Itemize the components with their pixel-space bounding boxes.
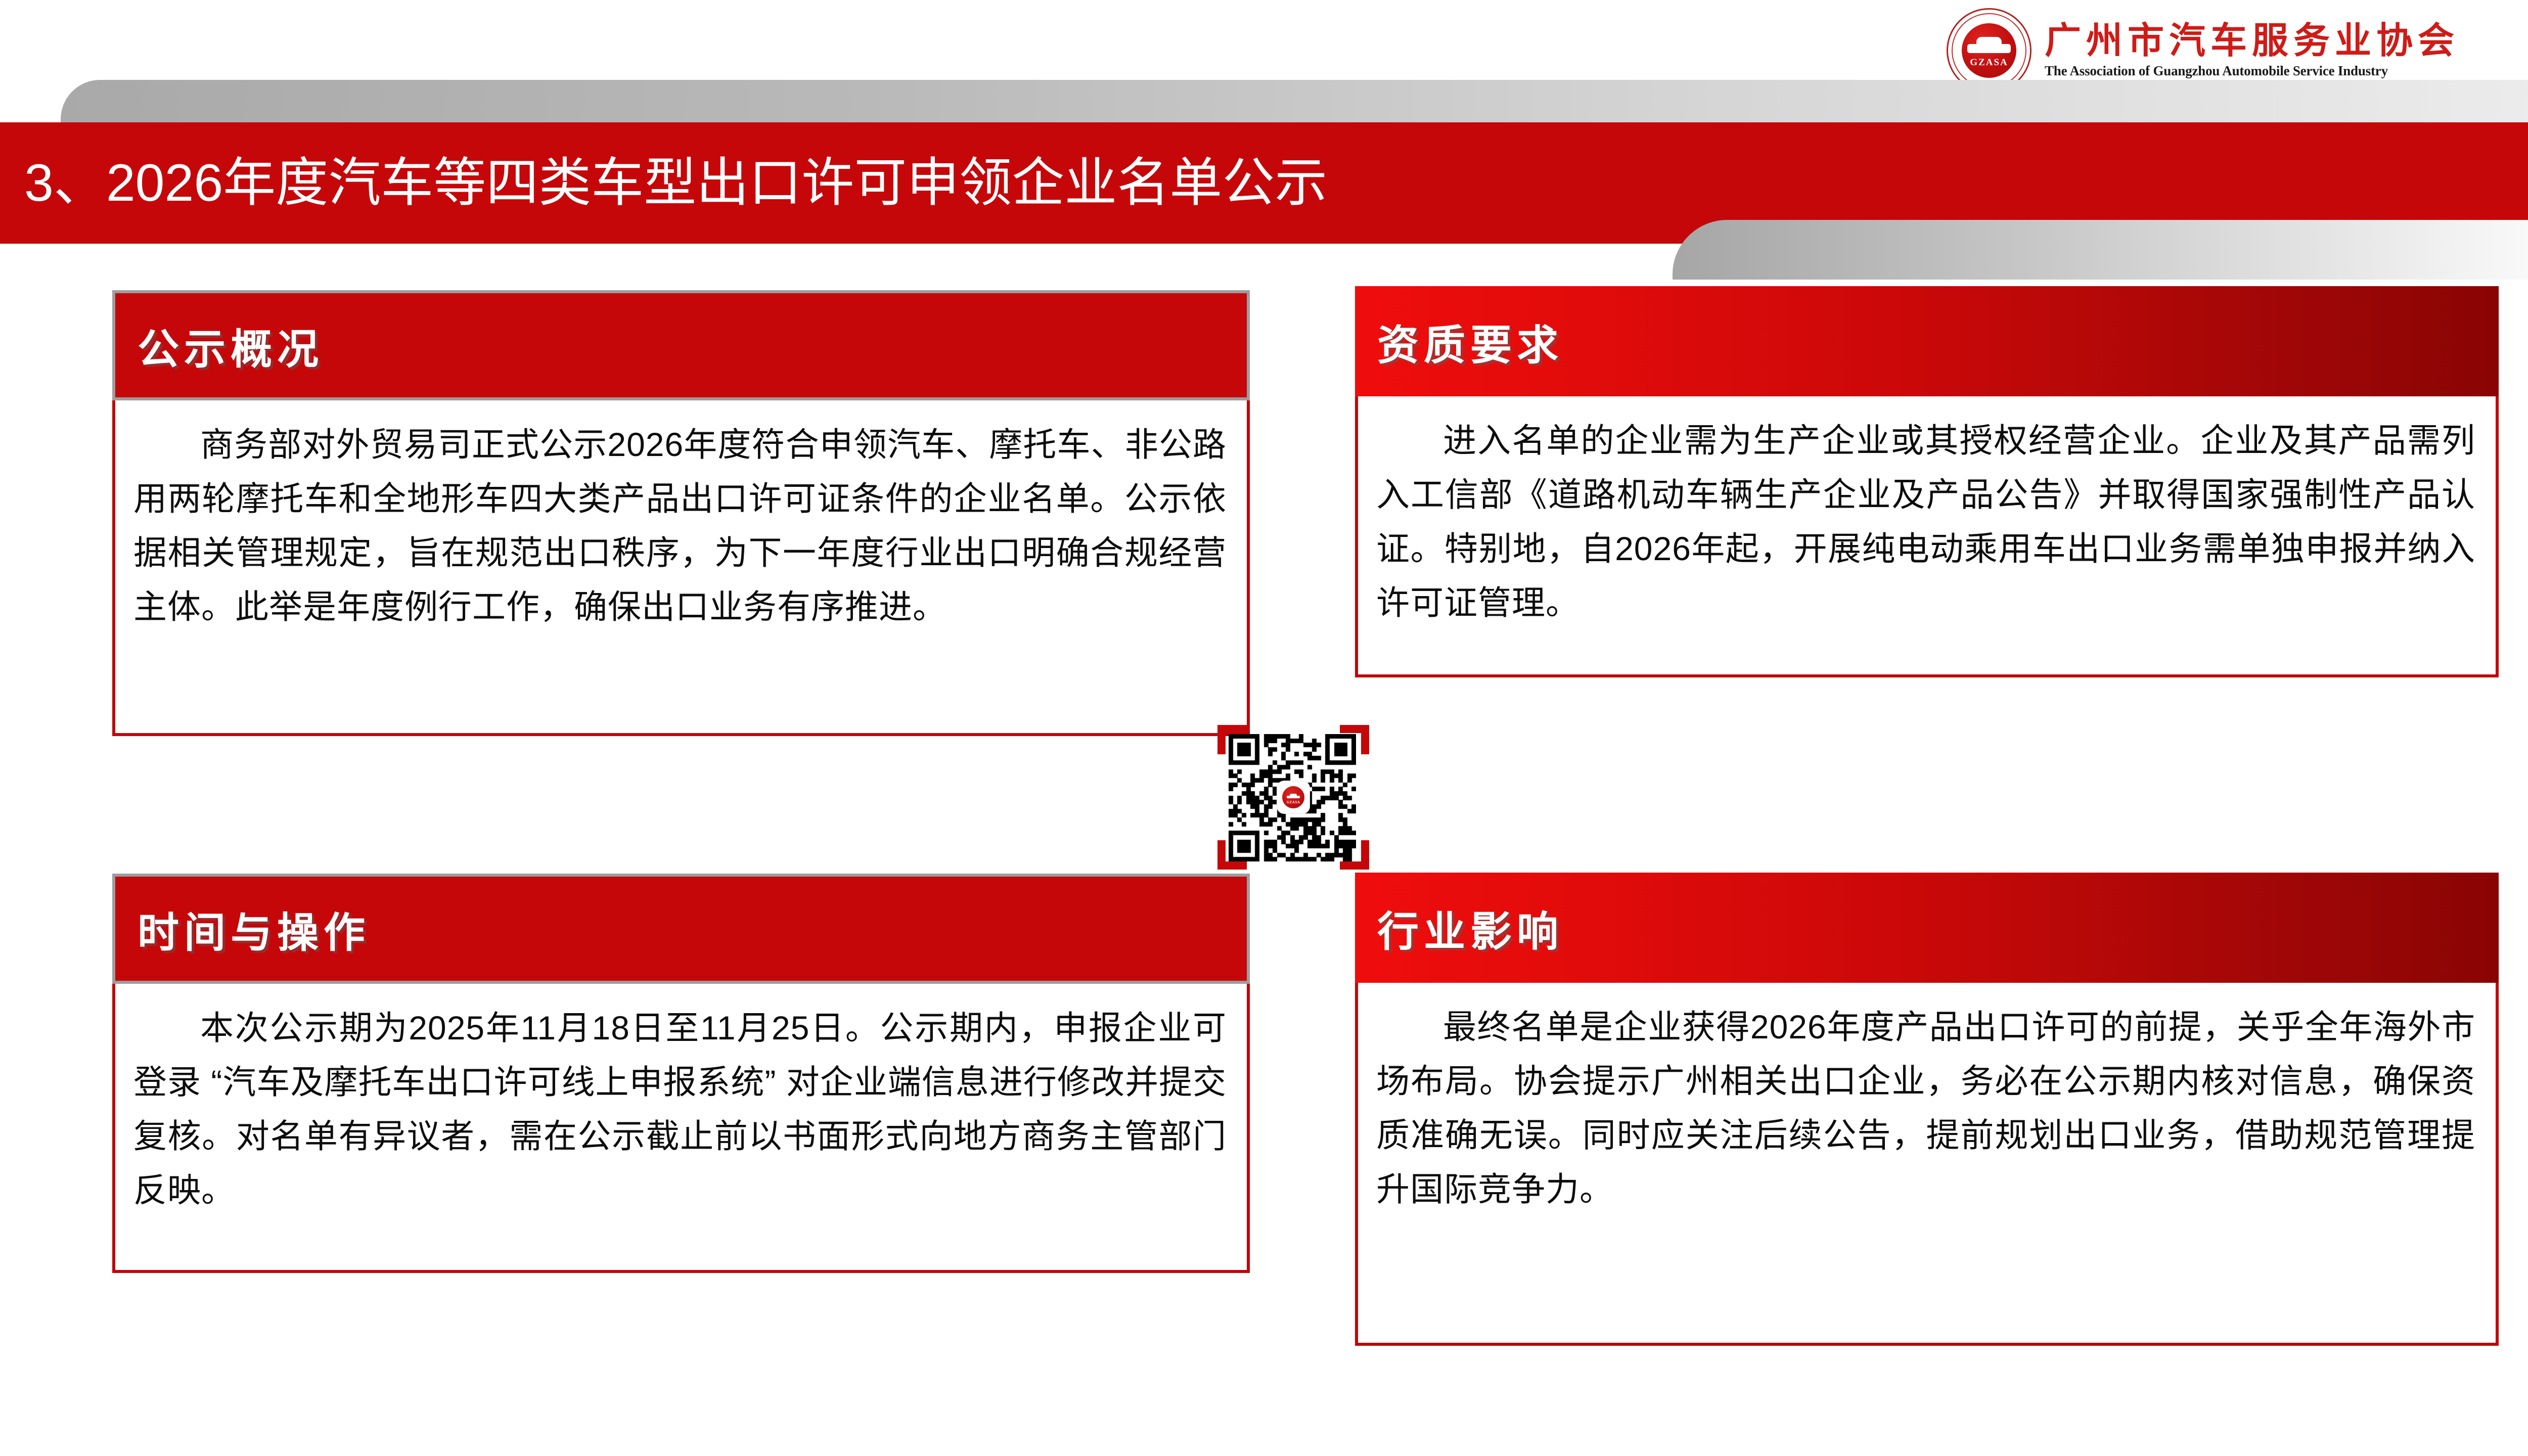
car-icon: [1967, 37, 2011, 57]
card-heading-label: 公示概况: [138, 315, 324, 376]
card-body-text: 进入名单的企业需为生产企业或其授权经营企业。企业及其产品需列入工信部《道路机动车…: [1376, 414, 2475, 630]
qr-center-logo-icon: GZASA: [1278, 782, 1309, 813]
car-icon: [1287, 794, 1300, 800]
card-header-publicity-overview: 公示概况: [112, 290, 1250, 400]
card-body-text: 商务部对外贸易司正式公示2026年度符合申领汽车、摩托车、非公路用两轮摩托车和全…: [133, 418, 1227, 634]
card-heading-label: 时间与操作: [138, 899, 370, 959]
card-qualification: 资质要求 进入名单的企业需为生产企业或其授权经营企业。企业及其产品需列入工信部《…: [1355, 286, 2499, 677]
card-timeline: 时间与操作 本次公示期为2025年11月18日至11月25日。公示期内，申报企业…: [112, 874, 1250, 1273]
card-body-industry-impact: 最终名单是企业获得2026年度产品出口许可的前提，关乎全年海外市场布局。协会提示…: [1355, 983, 2499, 1346]
org-name-cn: 广州市汽车服务业协会: [2045, 22, 2528, 61]
card-heading-label: 行业影响: [1377, 898, 1563, 958]
card-body-publicity-overview: 商务部对外贸易司正式公示2026年度符合申领汽车、摩托车、非公路用两轮摩托车和全…: [112, 400, 1250, 736]
card-header-qualification: 资质要求: [1355, 286, 2499, 396]
card-body-text: 本次公示期为2025年11月18日至11月25日。公示期内，申报企业可登录 “汽…: [133, 1001, 1227, 1217]
title-gray-band-bottom: [1673, 220, 2528, 280]
org-name-en: The Association of Guangzhou Automobile …: [2045, 63, 2528, 79]
card-publicity-overview: 公示概况 商务部对外贸易司正式公示2026年度符合申领汽车、摩托车、非公路用两轮…: [112, 290, 1250, 736]
qr-logo-acronym: GZASA: [1278, 800, 1309, 804]
card-heading-label: 资质要求: [1377, 311, 1563, 372]
card-industry-impact: 行业影响 最终名单是企业获得2026年度产品出口许可的前提，关乎全年海外市场布局…: [1355, 873, 2499, 1346]
card-body-text: 最终名单是企业获得2026年度产品出口许可的前提，关乎全年海外市场布局。协会提示…: [1376, 1000, 2475, 1216]
page-title: 3、2026年度汽车等四类车型出口许可申领企业名单公示: [24, 157, 1327, 209]
qr-code[interactable]: GZASA: [1217, 725, 1369, 870]
seal-acronym: GZASA: [1947, 57, 2032, 68]
card-body-qualification: 进入名单的企业需为生产企业或其授权经营企业。企业及其产品需列入工信部《道路机动车…: [1355, 396, 2499, 677]
card-body-timeline: 本次公示期为2025年11月18日至11月25日。公示期内，申报企业可登录 “汽…: [112, 984, 1250, 1273]
logo-text-block: 广州市汽车服务业协会 The Association of Guangzhou …: [2045, 22, 2528, 79]
card-header-timeline: 时间与操作: [112, 874, 1250, 984]
card-header-industry-impact: 行业影响: [1355, 873, 2499, 983]
title-gray-band-top: [61, 80, 2528, 124]
